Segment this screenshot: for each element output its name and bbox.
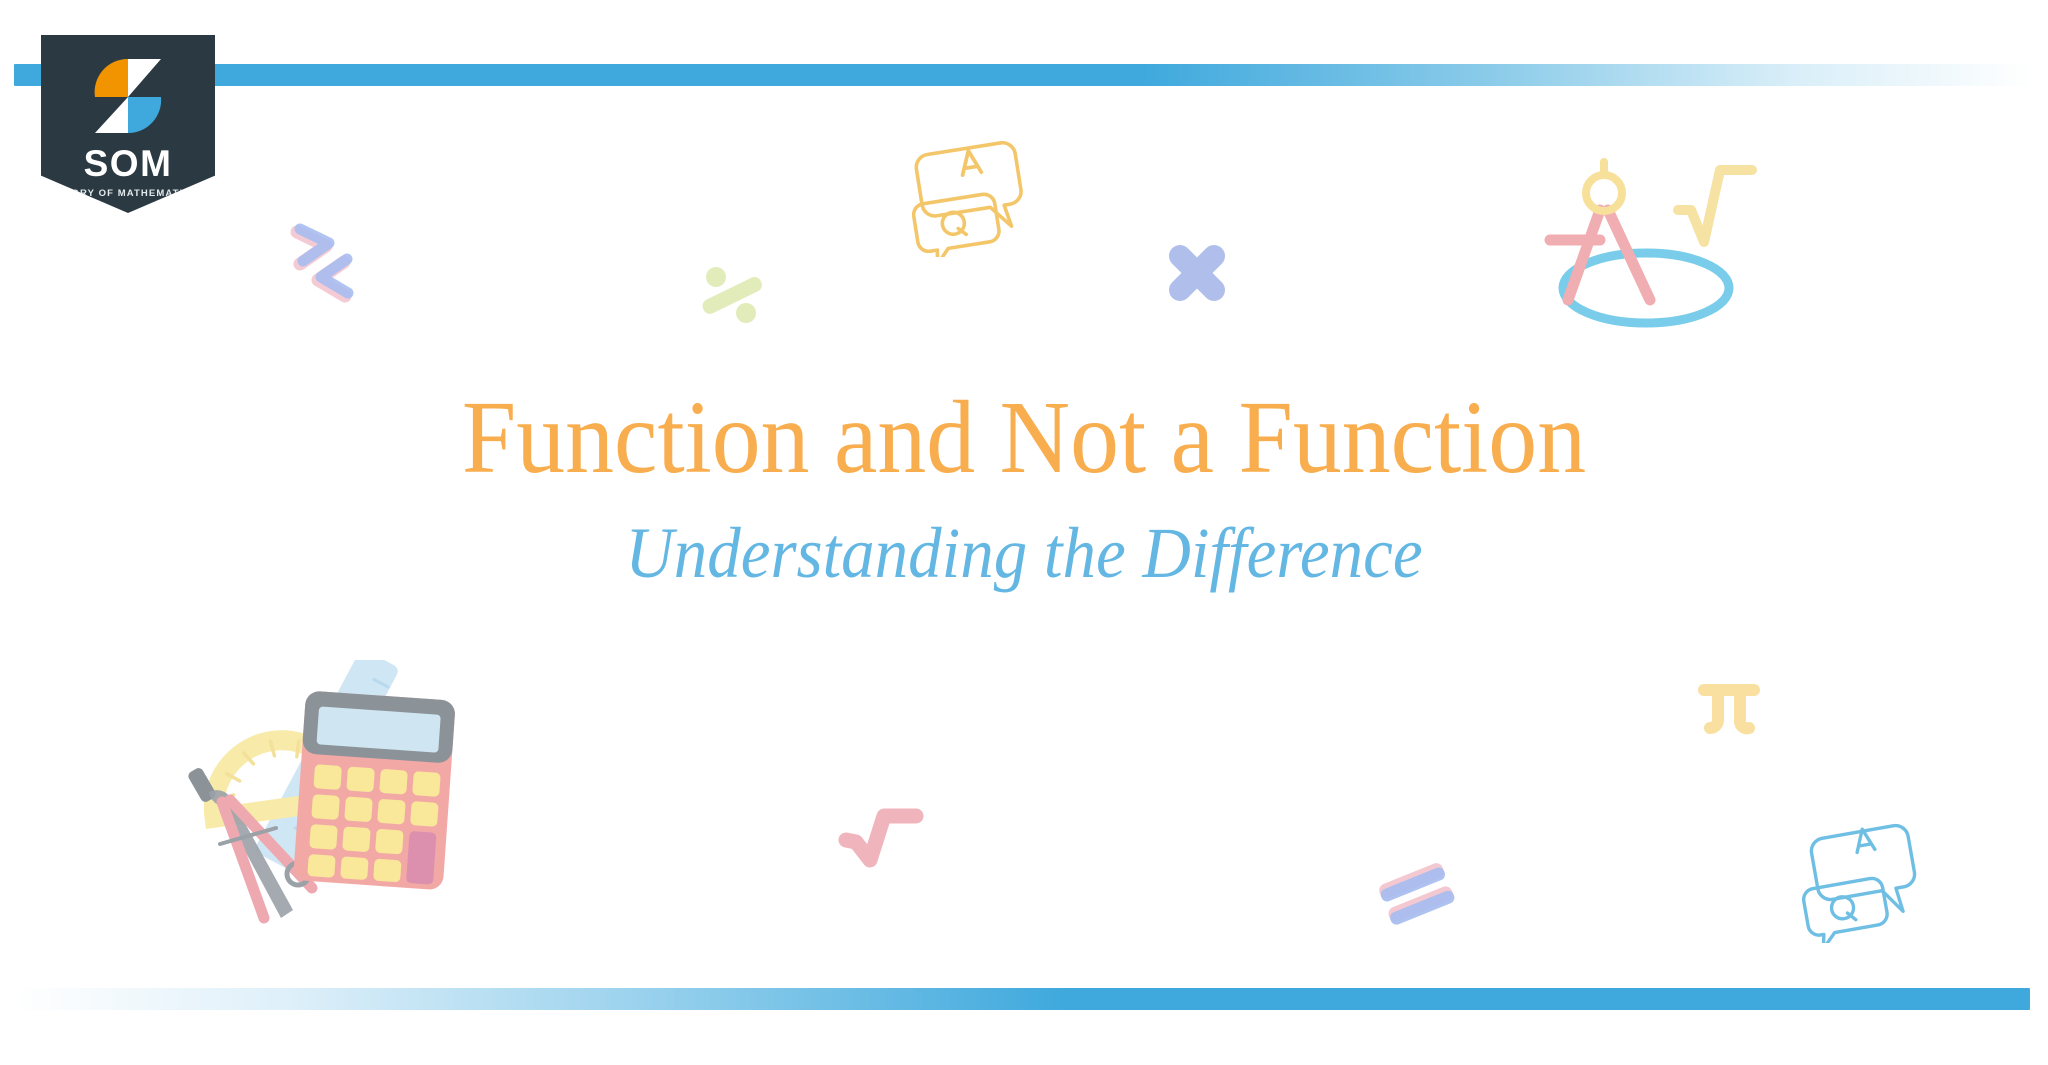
greater-less-than-symbols-icon <box>288 210 378 310</box>
page-title: Function and Not a Function <box>61 382 1986 494</box>
bottom-accent-bar <box>14 988 2030 1010</box>
multiplication-x-symbol-icon <box>1162 238 1232 308</box>
som-logo-wordmark: SOM <box>41 145 215 182</box>
som-logo-mark-icon <box>91 57 165 135</box>
math-tools-illustration <box>178 660 468 930</box>
division-symbol-icon <box>692 255 772 335</box>
presentation-slide: SOM STORY OF MATHEMATICS <box>0 0 2048 1065</box>
top-accent-bar <box>14 64 2032 86</box>
equals-symbol-icon <box>1372 852 1462 932</box>
qa-speech-bubbles-blue-icon <box>1802 818 1922 943</box>
som-logo: SOM STORY OF MATHEMATICS <box>41 35 215 213</box>
compass-drawing-circle-icon <box>1534 148 1764 343</box>
pi-symbol-icon <box>1694 672 1764 744</box>
title-block: Function and Not a Function Understandin… <box>0 382 2048 592</box>
qa-speech-bubbles-yellow-icon <box>912 132 1032 257</box>
square-root-curve-pink-icon <box>834 800 924 870</box>
page-subtitle: Understanding the Difference <box>72 516 1977 592</box>
som-logo-tagline: STORY OF MATHEMATICS <box>41 188 215 199</box>
